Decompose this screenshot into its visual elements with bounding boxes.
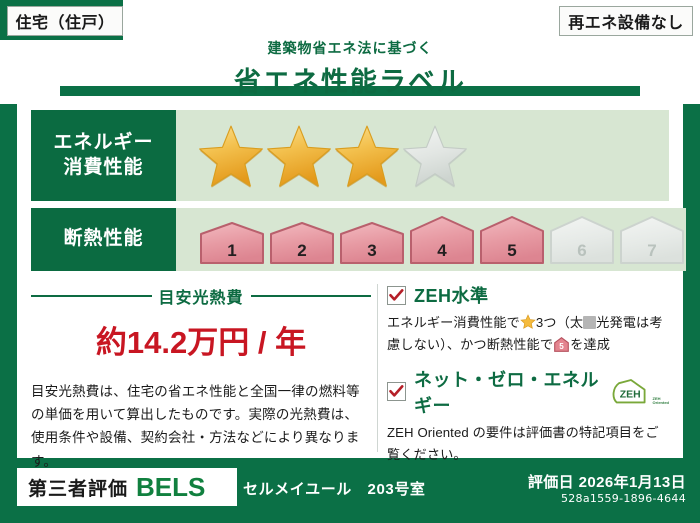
zeh-standard-title: ZEH水準 <box>414 282 489 308</box>
zeh-net-zero-title: ネット・ゼロ・エネルギー <box>414 366 601 418</box>
star-rating <box>198 124 468 188</box>
label-footer: 第三者評価 BELS セルメイユール 203号室 評価日 2026年1月13日 … <box>0 462 700 523</box>
zeh-item-net-zero: ネット・ゼロ・エネルギー ZEH ZEH Oriented <box>387 366 669 466</box>
checkmark-icon <box>387 382 406 401</box>
house-grade-number: 3 <box>338 241 406 261</box>
house-grade-number: 2 <box>268 241 336 261</box>
row-insulation-performance: 断熱性能 1234567 <box>31 208 669 271</box>
zeh-logo-subtext: ZEH Oriented <box>653 397 669 406</box>
house-grade-number: 5 <box>478 241 546 261</box>
inline-star-icon <box>520 314 536 330</box>
utility-cost-section: 目安光熱費 約14.2万円 / 年 目安光熱費は、住宅の省エネ性能と全国一律の燃… <box>31 282 371 473</box>
house-grade-empty-icon: 7 <box>618 215 686 265</box>
house-grade-number: 1 <box>198 241 266 261</box>
svg-text:5: 5 <box>559 342 564 351</box>
utility-cost-heading: 目安光熱費 <box>31 284 371 308</box>
label-body: エネルギー 消費性能 断熱性能 1234567 目安光熱費 <box>17 96 683 458</box>
zeh-item-standard: ZEH水準 エネルギー消費性能で3つ（太光発電は考慮しない）、かつ断熱性能で5を… <box>387 282 669 356</box>
title-subtitle: 建築物省エネ法に基づく <box>0 38 700 58</box>
bels-badge: 第三者評価 BELS <box>17 468 237 506</box>
rule-left <box>31 295 152 297</box>
zeh-standard-description: エネルギー消費性能で3つ（太光発電は考慮しない）、かつ断熱性能で5を達成 <box>387 312 669 356</box>
evaluation-date: 評価日 2026年1月13日 <box>528 471 686 492</box>
zeh-standard-head: ZEH水準 <box>387 282 669 308</box>
house-grade-filled-icon: 4 <box>408 215 476 265</box>
energy-performance-value <box>176 110 669 201</box>
house-grade-filled-icon: 1 <box>198 221 266 265</box>
lower-section: 目安光熱費 約14.2万円 / 年 目安光熱費は、住宅の省エネ性能と全国一律の燃… <box>17 282 683 458</box>
star-filled-icon <box>198 124 264 188</box>
svg-text:ZEH: ZEH <box>619 389 640 400</box>
building-name: セルメイユール 203号室 <box>243 478 426 499</box>
page-title: 省エネ性能ラベル <box>0 60 700 99</box>
rule-right <box>251 295 372 297</box>
utility-cost-note: 目安光熱費は、住宅の省エネ性能と全国一律の燃料等の単価を用いて算出したものです。… <box>31 380 371 473</box>
zeh-desc-part1: エネルギー消費性能で <box>387 315 520 330</box>
house-grade-filled-icon: 2 <box>268 221 336 265</box>
zeh-desc-star-count: 3つ（太 <box>536 315 583 330</box>
zeh-logo-sub-line2: Oriented <box>653 400 669 405</box>
house-grade-empty-icon: 6 <box>548 215 616 265</box>
star-filled-icon <box>334 124 400 188</box>
zeh-net-zero-head: ネット・ゼロ・エネルギー ZEH ZEH Oriented <box>387 366 669 418</box>
utility-cost-amount: 約14.2万円 / 年 <box>31 317 371 362</box>
zeh-section: ZEH水準 エネルギー消費性能で3つ（太光発電は考慮しない）、かつ断熱性能で5を… <box>387 282 669 470</box>
evaluation-id: 528a1559-1896-4644 <box>561 492 686 505</box>
energy-performance-label: エネルギー 消費性能 <box>31 110 176 201</box>
inline-house-grade-icon: 5 <box>553 336 570 353</box>
vertical-divider <box>377 284 378 452</box>
insulation-grade-scale: 1234567 <box>198 215 686 265</box>
star-filled-icon <box>266 124 332 188</box>
house-grade-number: 7 <box>618 241 686 261</box>
page-title-block: 建築物省エネ法に基づく 省エネ性能ラベル <box>0 38 700 99</box>
bels-label-en: BELS <box>136 472 205 503</box>
insulation-label-line1: 断熱性能 <box>63 227 143 251</box>
tag-renewable-equipment: 再エネ設備なし <box>559 6 693 36</box>
house-grade-filled-icon: 5 <box>478 215 546 265</box>
tag-dwelling-type: 住宅（住戸） <box>7 6 123 36</box>
redacted-character <box>583 316 596 329</box>
house-grade-filled-icon: 3 <box>338 221 406 265</box>
insulation-performance-value: 1234567 <box>176 208 686 271</box>
star-empty-icon <box>402 124 468 188</box>
bels-label-jp: 第三者評価 <box>28 474 128 501</box>
energy-label-line2: 消費性能 <box>63 156 143 180</box>
zeh-desc-part3: を達成 <box>570 337 610 352</box>
row-energy-performance: エネルギー 消費性能 <box>31 110 669 201</box>
zeh-net-zero-description: ZEH Oriented の要件は評価書の特記項目をご覧ください。 <box>387 422 669 466</box>
house-grade-number: 4 <box>408 241 476 261</box>
energy-performance-label: 建築物省エネ法に基づく 省エネ性能ラベル 住宅（住戸） 再エネ設備なし エネルギ… <box>0 0 700 523</box>
zeh-logo: ZEH ZEH Oriented <box>611 378 669 406</box>
energy-label-line1: エネルギー <box>53 131 153 155</box>
house-grade-number: 6 <box>548 241 616 261</box>
utility-cost-heading-text: 目安光熱費 <box>159 284 244 308</box>
checkmark-icon <box>387 286 406 305</box>
insulation-performance-label: 断熱性能 <box>31 208 176 271</box>
